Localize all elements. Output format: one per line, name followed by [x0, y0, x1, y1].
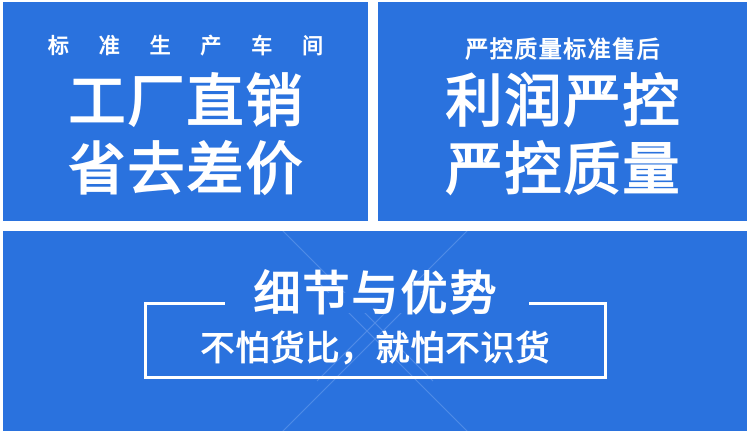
details-subtitle: 不怕货比，就怕不识货	[3, 332, 747, 366]
panel-quality-content: 严控质量标准售后 利润严控 严控质量	[378, 2, 747, 221]
quality-headline-line2: 严控质量	[378, 142, 747, 199]
panel-factory-content: 标 准 生 产 车 间 工厂直销 省去差价	[3, 2, 368, 221]
factory-headline-line1: 工厂直销	[3, 74, 368, 131]
quality-eyebrow-text: 严控质量标准售后	[378, 30, 747, 64]
details-title: 细节与优势	[3, 270, 747, 317]
panel-details-content: 细节与优势 不怕货比，就怕不识货	[3, 231, 747, 431]
panel-factory-direct-sales: 标 准 生 产 车 间 工厂直销 省去差价	[3, 2, 368, 221]
factory-eyebrow-text: 标 准 生 产 车 间	[3, 30, 368, 60]
promo-banner: 标 准 生 产 车 间 工厂直销 省去差价 严控质量标准售后 利润严控 严控质量…	[0, 0, 750, 440]
factory-headline-line2: 省去差价	[3, 142, 368, 199]
panel-details-advantages: 细节与优势 不怕货比，就怕不识货	[3, 231, 747, 431]
panel-quality-control: 严控质量标准售后 利润严控 严控质量	[378, 2, 747, 221]
quality-headline-line1: 利润严控	[378, 74, 747, 131]
